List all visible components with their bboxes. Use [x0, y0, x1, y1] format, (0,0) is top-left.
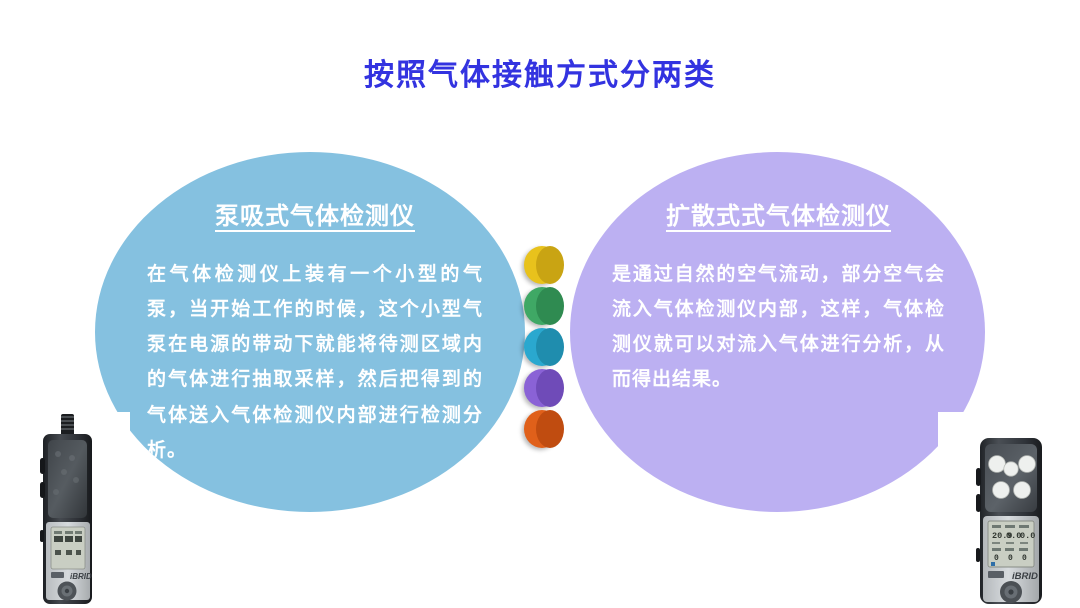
bead-yellow: [524, 246, 564, 286]
right-bubble-content: 扩散式式气体检测仪 是通过自然的空气流动，部分空气会流入气体检测仪内部，这样，气…: [570, 152, 985, 512]
bead-purple-shade: [536, 369, 564, 407]
left-bubble-pump-type: 泵吸式气体检测仪 在气体检测仪上装有一个小型的气泵，当开始工作的时候，这个小型气…: [95, 152, 525, 512]
right-bubble-body: 是通过自然的空气流动，部分空气会流入气体检测仪内部，这样，气体检测仪就可以对流入…: [612, 257, 945, 398]
svg-text:0: 0: [1008, 554, 1013, 563]
left-bubble-heading: 泵吸式气体检测仪: [147, 196, 483, 231]
device-left-pump-detector: iBRID: [34, 410, 100, 608]
svg-text:0.0: 0.0: [1020, 531, 1035, 541]
bead-orange: [524, 410, 564, 450]
bead-purple: [524, 369, 564, 409]
pump-detector-icon: iBRID: [34, 410, 100, 608]
diffusion-detector-icon: 20.9 0.0 0.0 0 0 0 iBRID: [972, 428, 1050, 608]
svg-text:0: 0: [994, 554, 999, 563]
bead-yellow-shade: [536, 246, 564, 284]
right-bubble-heading: 扩散式式气体检测仪: [612, 196, 945, 231]
bead-green-shade: [536, 287, 564, 325]
bead-cyan: [524, 328, 564, 368]
svg-text:iBRID: iBRID: [70, 572, 92, 581]
right-bubble-diffusion-type: 扩散式式气体检测仪 是通过自然的空气流动，部分空气会流入气体检测仪内部，这样，气…: [570, 152, 985, 512]
device-right-diffusion-detector: 20.9 0.0 0.0 0 0 0 iBRID: [972, 428, 1050, 608]
left-bubble-body: 在气体检测仪上装有一个小型的气泵，当开始工作的时候，这个小型气泵在电源的带动下就…: [147, 257, 483, 468]
bead-green: [524, 287, 564, 327]
bead-cyan-shade: [536, 328, 564, 366]
page-title: 按照气体接触方式分两类: [0, 50, 1080, 94]
left-bubble-content: 泵吸式气体检测仪 在气体检测仪上装有一个小型的气泵，当开始工作的时候，这个小型气…: [95, 152, 525, 512]
svg-text:iBRID: iBRID: [1012, 571, 1038, 582]
slide-canvas: 按照气体接触方式分两类 泵吸式气体检测仪 在气体检测仪上装有一个小型的气泵，当开…: [0, 0, 1080, 608]
bead-divider-column: [524, 246, 570, 452]
bead-orange-shade: [536, 410, 564, 448]
svg-text:0: 0: [1022, 554, 1027, 563]
